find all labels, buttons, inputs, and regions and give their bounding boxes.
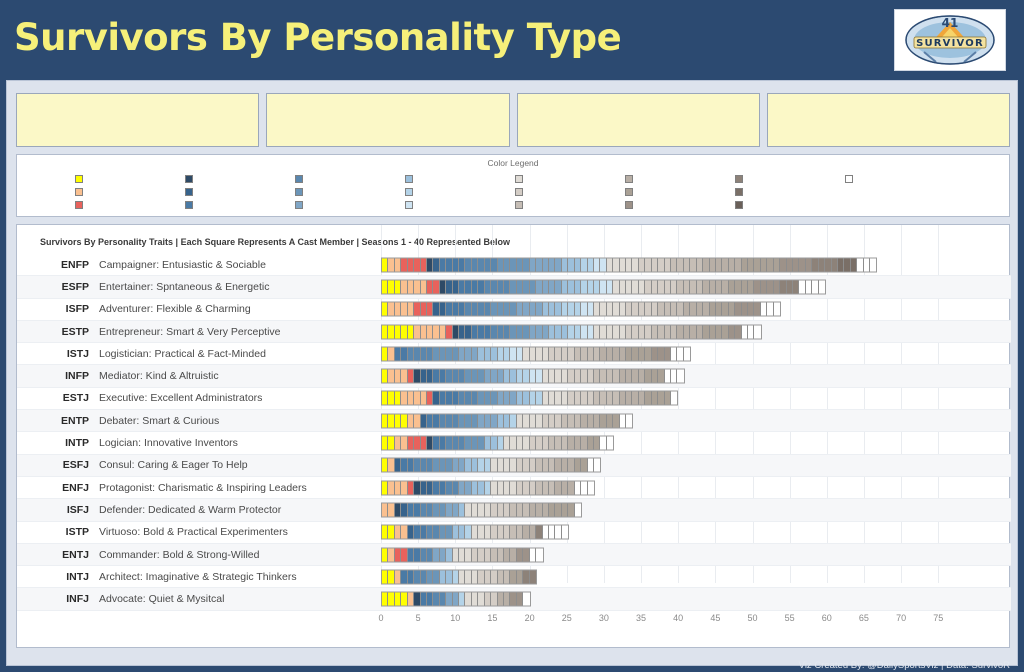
legend-swatch-icon: [515, 188, 523, 196]
cast-member-square[interactable]: [677, 370, 683, 383]
row-square-series[interactable]: [381, 458, 601, 473]
legend-swatch-icon: [75, 175, 83, 183]
row-type-code: ISTP: [17, 526, 89, 538]
legend-item[interactable]: [515, 172, 625, 185]
legend-swatch-icon: [295, 188, 303, 196]
legend-swatch-icon: [185, 188, 193, 196]
x-axis-tick-label: 35: [636, 613, 646, 623]
chart-row[interactable]: INTJArchitect: Imaginative & Strategic T…: [17, 566, 1011, 588]
x-axis-tick-label: 55: [785, 613, 795, 623]
row-type-description: Logistician: Practical & Fact-Minded: [99, 348, 266, 360]
cast-member-square[interactable]: [530, 570, 536, 583]
legend-column: [625, 172, 735, 211]
cast-member-square[interactable]: [607, 437, 613, 450]
row-square-series[interactable]: [381, 346, 691, 361]
chart-row[interactable]: ENTPDebater: Smart & Curious: [17, 410, 1011, 432]
legend-item[interactable]: [295, 172, 405, 185]
cast-member-square[interactable]: [774, 303, 780, 316]
cast-member-square[interactable]: [754, 325, 760, 338]
row-type-description: Defender: Dedicated & Warm Protector: [99, 504, 281, 516]
row-square-series[interactable]: [381, 502, 582, 517]
chart-row[interactable]: ENFJProtagonist: Charismatic & Inspiring…: [17, 477, 1011, 499]
legend-swatch-icon: [405, 188, 413, 196]
row-type-code: INTJ: [17, 571, 89, 583]
row-square-series[interactable]: [381, 257, 877, 272]
color-legend: Color Legend: [16, 154, 1010, 217]
legend-swatch-icon: [185, 175, 193, 183]
x-axis-tick-label: 60: [822, 613, 832, 623]
x-axis-tick-label: 40: [673, 613, 683, 623]
legend-swatch-icon: [735, 188, 743, 196]
chart-row[interactable]: ISTPVirtuoso: Bold & Practical Experimen…: [17, 522, 1011, 544]
chart-row[interactable]: ISFJDefender: Dedicated & Warm Protector: [17, 499, 1011, 521]
row-type-code: INFP: [17, 370, 89, 382]
chart-row[interactable]: INFJAdvocate: Quiet & Mysitcal: [17, 588, 1011, 610]
x-axis-tick-label: 75: [933, 613, 943, 623]
kpi-row: [16, 93, 1010, 147]
row-type-code: ESFP: [17, 281, 89, 293]
x-axis-tick-label: 5: [416, 613, 421, 623]
legend-item[interactable]: [735, 172, 845, 185]
x-axis-tick-label: 0: [378, 613, 383, 623]
chart-row[interactable]: INFPMediator: Kind & Altruistic: [17, 365, 1011, 387]
row-type-code: ISTJ: [17, 348, 89, 360]
row-square-series[interactable]: [381, 324, 762, 339]
legend-column: [735, 172, 845, 211]
legend-item[interactable]: [515, 185, 625, 198]
legend-swatch-icon: [735, 201, 743, 209]
cast-member-square[interactable]: [523, 593, 529, 606]
x-axis-tick-label: 15: [487, 613, 497, 623]
chart-row[interactable]: ISTJLogistician: Practical & Fact-Minded: [17, 343, 1011, 365]
survivor-41-logo: 41 SURVIVOR: [894, 9, 1006, 71]
row-type-description: Mediator: Kind & Altruistic: [99, 370, 219, 382]
row-square-series[interactable]: [381, 302, 781, 317]
survivor-logo-icon: 41 SURVIVOR: [898, 12, 1002, 68]
legend-item[interactable]: [625, 185, 735, 198]
row-type-description: Advocate: Quiet & Mysitcal: [99, 593, 224, 605]
legend-item[interactable]: [515, 198, 625, 211]
legend-column: [845, 172, 955, 211]
cast-member-square[interactable]: [870, 258, 876, 271]
legend-item[interactable]: [185, 172, 295, 185]
page-title: Survivors By Personality Type: [14, 16, 621, 59]
legend-item[interactable]: [185, 198, 295, 211]
x-axis-tick-label: 50: [747, 613, 757, 623]
legend-swatch-icon: [515, 201, 523, 209]
legend-swatch-icon: [75, 188, 83, 196]
dashboard-panel: Color Legend Survivors By Personality Tr…: [6, 80, 1018, 666]
footer-credit: Viz Created By: @DailySportsViz | Data: …: [799, 660, 1010, 671]
chart-row[interactable]: ESTPEntrepreneur: Smart & Very Perceptiv…: [17, 321, 1011, 343]
legend-item[interactable]: [625, 198, 735, 211]
legend-column: [75, 172, 185, 211]
legend-item[interactable]: [405, 185, 515, 198]
legend-item[interactable]: [405, 172, 515, 185]
legend-item[interactable]: [185, 185, 295, 198]
dashboard-header: Survivors By Personality Type 41 SURVIVO…: [0, 0, 1024, 80]
row-type-description: Consul: Caring & Eager To Help: [99, 459, 248, 471]
row-type-description: Debater: Smart & Curious: [99, 415, 219, 427]
legend-title: Color Legend: [17, 158, 1009, 168]
cast-member-square[interactable]: [594, 459, 600, 472]
svg-text:SURVIVOR: SURVIVOR: [916, 38, 984, 49]
legend-item[interactable]: [735, 185, 845, 198]
row-type-code: ENFJ: [17, 482, 89, 494]
x-axis-tick-label: 20: [525, 613, 535, 623]
legend-swatch-icon: [405, 175, 413, 183]
legend-columns: [75, 172, 955, 211]
row-type-description: Campaigner: Entusiastic & Sociable: [99, 259, 266, 271]
row-type-description: Architect: Imaginative & Strategic Think…: [99, 571, 297, 583]
chart-row[interactable]: ESFPEntertainer: Spntaneous & Energetic: [17, 276, 1011, 298]
row-square-series[interactable]: [381, 480, 595, 495]
legend-swatch-icon: [515, 175, 523, 183]
legend-swatch-icon: [295, 175, 303, 183]
x-axis-tick-label: 70: [896, 613, 906, 623]
row-type-description: Entrepreneur: Smart & Very Perceptive: [99, 326, 281, 338]
kpi-card[interactable]: [517, 93, 760, 147]
kpi-card[interactable]: [266, 93, 509, 147]
cast-member-square[interactable]: [819, 280, 825, 293]
legend-swatch-icon: [625, 201, 633, 209]
legend-column: [185, 172, 295, 211]
cast-member-square[interactable]: [588, 481, 594, 494]
chart-row[interactable]: ENFPCampaigner: Entusiastic & Sociable: [17, 254, 1011, 276]
row-square-series[interactable]: [381, 525, 569, 540]
cast-member-square[interactable]: [536, 548, 542, 561]
chart-row[interactable]: ISFPAdventurer: Flexible & Charming: [17, 299, 1011, 321]
x-axis-tick-label: 10: [450, 613, 460, 623]
legend-item[interactable]: [735, 198, 845, 211]
x-axis-tick-label: 25: [562, 613, 572, 623]
legend-item[interactable]: [75, 198, 185, 211]
row-type-description: Adventurer: Flexible & Charming: [99, 303, 251, 315]
legend-swatch-icon: [625, 188, 633, 196]
row-type-description: Protagonist: Charismatic & Inspiring Lea…: [99, 482, 307, 494]
row-square-series[interactable]: [381, 391, 678, 406]
cast-member-square[interactable]: [671, 392, 677, 405]
row-type-code: ESFJ: [17, 459, 89, 471]
legend-column: [405, 172, 515, 211]
legend-swatch-icon: [185, 201, 193, 209]
row-type-description: Executive: Excellent Administrators: [99, 392, 262, 404]
chart-row[interactable]: ENTJCommander: Bold & Strong-Willed: [17, 544, 1011, 566]
kpi-card[interactable]: [16, 93, 259, 147]
legend-swatch-icon: [295, 201, 303, 209]
row-type-code: ENTJ: [17, 549, 89, 561]
chart-card: Survivors By Personality Traits | Each S…: [16, 224, 1010, 648]
row-type-code: ISFJ: [17, 504, 89, 516]
row-square-series[interactable]: [381, 436, 614, 451]
row-square-series[interactable]: [381, 569, 537, 584]
legend-column: [295, 172, 405, 211]
row-type-description: Logician: Innovative Inventors: [99, 437, 238, 449]
row-square-series[interactable]: [381, 279, 826, 294]
legend-item[interactable]: [625, 172, 735, 185]
cast-member-square[interactable]: [684, 347, 690, 360]
chart-row[interactable]: ESTJExecutive: Excellent Administrators: [17, 388, 1011, 410]
x-axis-tick-label: 45: [710, 613, 720, 623]
row-type-code: ESTJ: [17, 392, 89, 404]
legend-item[interactable]: [405, 198, 515, 211]
svg-text:41: 41: [942, 16, 959, 30]
legend-column: [515, 172, 625, 211]
dashboard: Survivors By Personality Type 41 SURVIVO…: [0, 0, 1024, 672]
legend-swatch-icon: [405, 201, 413, 209]
row-type-code: INTP: [17, 437, 89, 449]
legend-swatch-icon: [735, 175, 743, 183]
legend-item[interactable]: [75, 172, 185, 185]
row-type-description: Entertainer: Spntaneous & Energetic: [99, 281, 269, 293]
legend-swatch-icon: [625, 175, 633, 183]
row-square-series[interactable]: [381, 413, 633, 428]
row-type-description: Virtuoso: Bold & Practical Experimenters: [99, 526, 288, 538]
cast-member-square[interactable]: [575, 503, 581, 516]
x-axis: 051015202530354045505560657075: [381, 613, 981, 631]
row-type-code: ISFP: [17, 303, 89, 315]
chart-subtitle: Survivors By Personality Traits | Each S…: [40, 237, 510, 247]
row-square-series[interactable]: [381, 369, 685, 384]
row-square-series[interactable]: [381, 592, 531, 607]
row-type-code: INFJ: [17, 593, 89, 605]
row-square-series[interactable]: [381, 547, 544, 562]
chart-plot-area: ENFPCampaigner: Entusiastic & SociableES…: [17, 254, 1011, 612]
legend-item[interactable]: [295, 198, 405, 211]
legend-item[interactable]: [295, 185, 405, 198]
x-axis-tick-label: 30: [599, 613, 609, 623]
legend-item[interactable]: [845, 172, 955, 185]
legend-swatch-icon: [845, 175, 853, 183]
row-type-description: Commander: Bold & Strong-Willed: [99, 549, 259, 561]
row-type-code: ENFP: [17, 259, 89, 271]
chart-row[interactable]: INTPLogician: Innovative Inventors: [17, 432, 1011, 454]
row-type-code: ESTP: [17, 326, 89, 338]
x-axis-tick-label: 65: [859, 613, 869, 623]
kpi-card[interactable]: [767, 93, 1010, 147]
chart-row[interactable]: ESFJConsul: Caring & Eager To Help: [17, 455, 1011, 477]
cast-member-square[interactable]: [562, 526, 568, 539]
row-type-code: ENTP: [17, 415, 89, 427]
cast-member-square[interactable]: [626, 414, 632, 427]
legend-item[interactable]: [75, 185, 185, 198]
legend-swatch-icon: [75, 201, 83, 209]
